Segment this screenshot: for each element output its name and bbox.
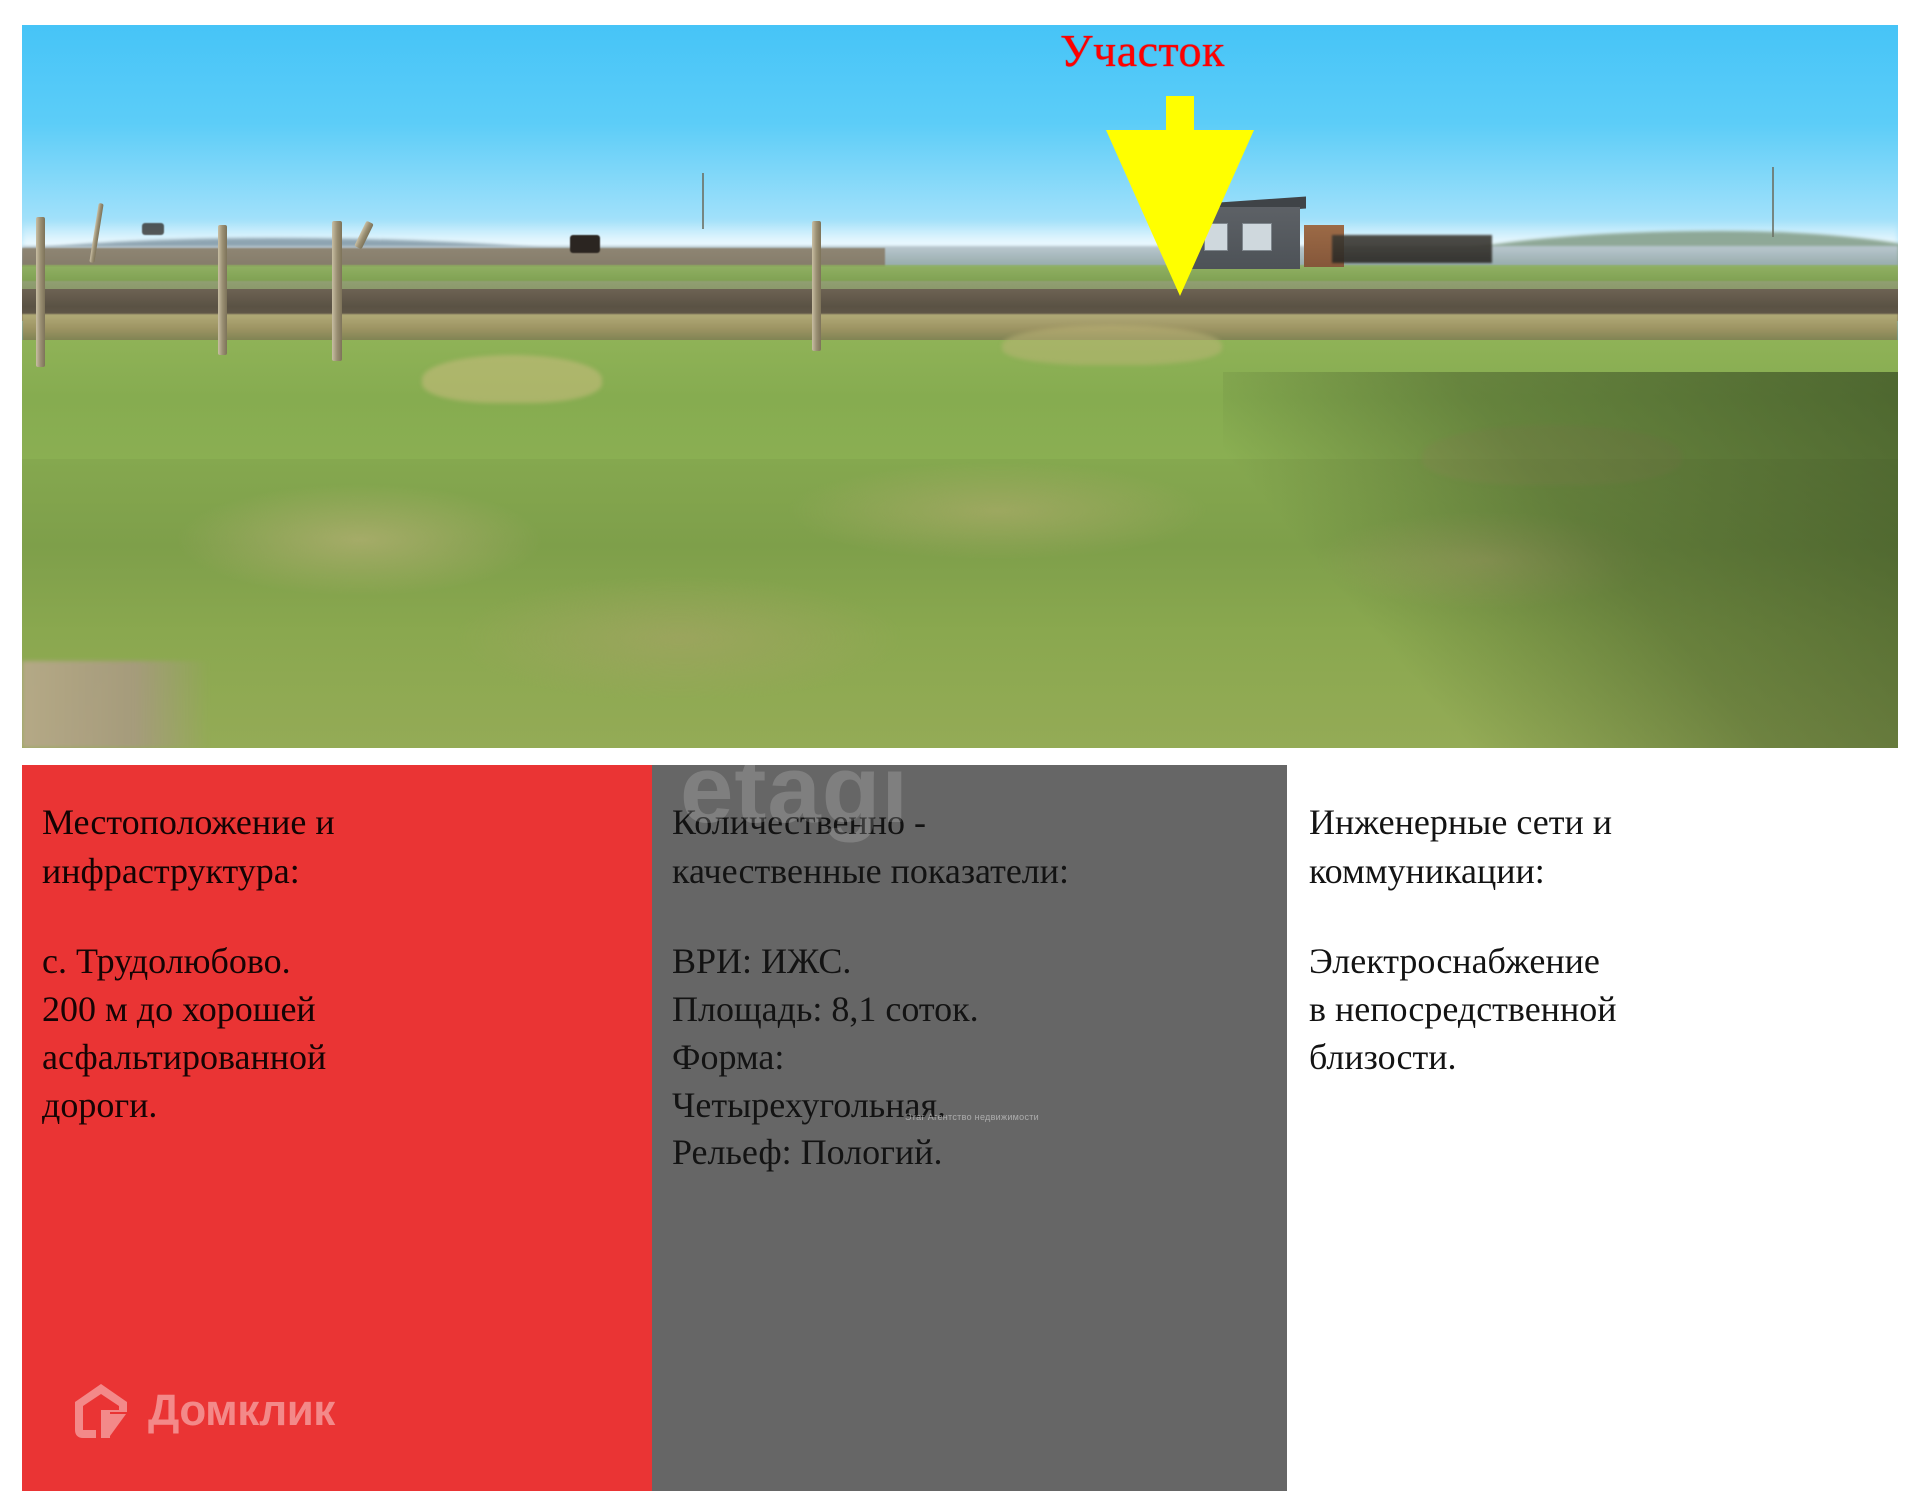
farm-equipment-row [1332,235,1492,263]
photo-shadow [1223,372,1898,748]
fence-post [36,217,45,367]
panel-utilities-body: Электроснабжение в непосредственной близ… [1309,938,1898,1082]
panel-utilities-title: Инженерные сети и коммуникации: [1309,798,1898,896]
green-field-strip [22,265,1898,281]
grass-tuft [1002,325,1222,365]
panel-utilities: Инженерные сети и коммуникации: Электрос… [1287,765,1898,1491]
panel-location-body: с. Трудолюбово. 200 м до хорошей асфальт… [42,938,652,1130]
panel-location-title: Местоположение и инфраструктура: [42,798,652,896]
house-icon [70,1380,132,1442]
grass-tuft [422,355,602,403]
property-photo [22,25,1898,748]
plot-pointer-arrow [1106,96,1254,296]
domclick-logo: Домклик [70,1380,335,1442]
grazing-cow [570,235,600,253]
dirt-track [22,661,210,748]
fence-post [218,225,227,355]
domclick-wordmark: Домклик [148,1386,335,1436]
plot-annotation-label: Участок [1060,24,1225,77]
panel-indicators-body: ВРИ: ИЖС. Площадь: 8,1 соток. Форма: Чет… [672,938,1287,1177]
panel-indicators: Количественно - качественные показатели:… [652,765,1287,1491]
down-arrow-icon [1106,96,1254,296]
fence-post [812,221,821,351]
panel-indicators-title: Количественно - качественные показатели: [672,798,1287,896]
grazing-cow [142,223,164,235]
utility-pole [1772,167,1774,237]
utility-pole [702,173,704,229]
fence-post [332,221,342,361]
